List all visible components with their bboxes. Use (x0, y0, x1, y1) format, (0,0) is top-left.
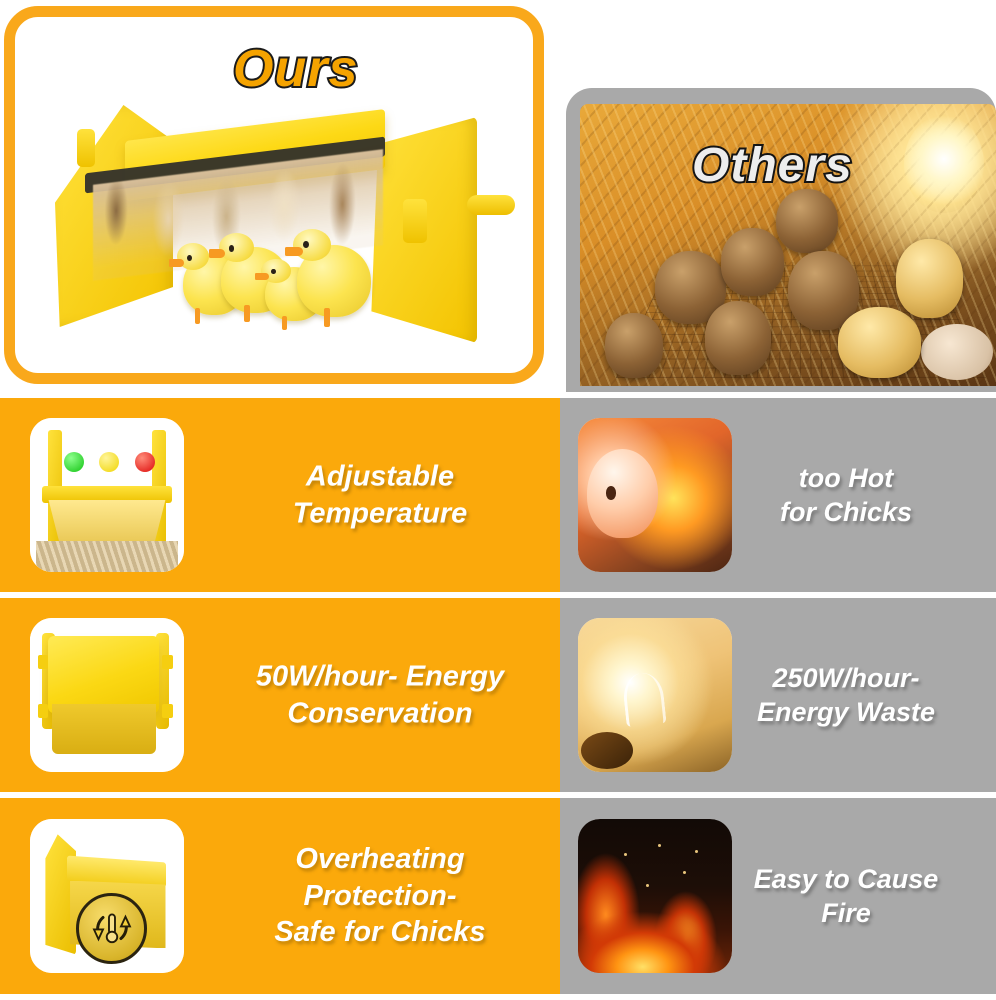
caption-line: 50W/hour- Energy (215, 658, 545, 695)
comparison-infographic: Ours Others (0, 0, 996, 1000)
ours-cell: Adjustable Temperature (0, 398, 560, 592)
chick (776, 189, 838, 254)
feature-row-energy: 50W/hour- Energy Conservation 250W/hour-… (0, 598, 996, 792)
plate-top-surface (48, 636, 159, 713)
chick (605, 313, 663, 378)
ours-cell: 50W/hour- Energy Conservation (0, 598, 560, 792)
feeder-cup (921, 324, 993, 380)
plate-height-knob (467, 195, 515, 215)
chick (896, 239, 963, 318)
others-cell: too Hot for Chicks (560, 398, 996, 592)
others-cell: 250W/hour- Energy Waste (560, 598, 996, 792)
caption-line: Overheating (215, 841, 545, 878)
others-photo-frame: Others (580, 104, 996, 386)
ours-cell: Overheating Protection- Safe for Chicks (0, 798, 560, 994)
plate-clip-right (403, 199, 427, 243)
chick (587, 449, 658, 538)
caption-line: Conservation (215, 695, 545, 732)
plate-tab (38, 655, 49, 669)
feature-row-overheating: Overheating Protection- Safe for Chicks … (0, 798, 996, 994)
hero-ours-panel: Ours (4, 6, 544, 384)
caption-line: Adjustable (215, 458, 545, 495)
bulb-base (581, 732, 633, 769)
caption-line: too Hot (706, 461, 986, 495)
caption-line: Temperature (215, 495, 545, 532)
ours-title: Ours (233, 39, 358, 99)
others-caption-energy-waste: 250W/hour- Energy Waste (706, 661, 986, 729)
caption-line: 250W/hour- (706, 661, 986, 695)
bulb-filament (622, 671, 667, 727)
thermometer-recycle-badge-icon (76, 893, 147, 964)
feature-row-temperature: Adjustable Temperature too Hot for Chick… (0, 398, 996, 592)
plate-clip-left (77, 129, 95, 167)
hero-comparison-row: Ours Others (0, 0, 996, 396)
chick (297, 245, 371, 317)
plate-tab (162, 704, 173, 718)
caption-line: Safe for Chicks (215, 914, 545, 951)
caption-line: Easy to Cause (706, 862, 986, 896)
caption-line: Fire (706, 896, 986, 930)
plate-tab (38, 704, 49, 718)
ours-caption-overheating: Overheating Protection- Safe for Chicks (215, 841, 545, 951)
thumb-energy-conservation (30, 618, 184, 772)
indicator-light-yellow (99, 452, 119, 472)
others-cell: Easy to Cause Fire (560, 798, 996, 994)
bedding-shavings (36, 541, 178, 572)
ours-caption-energy: 50W/hour- Energy Conservation (215, 658, 545, 731)
chick (721, 228, 783, 296)
plate-body (52, 704, 157, 753)
hero-others-panel: Others (566, 88, 996, 396)
chick (705, 301, 772, 374)
others-caption-fire: Easy to Cause Fire (706, 862, 986, 930)
indicator-light-green (64, 452, 84, 472)
caption-line: Energy Waste (706, 695, 986, 729)
ours-caption-temperature: Adjustable Temperature (215, 458, 545, 531)
thumb-adjustable-temperature (30, 418, 184, 572)
thumb-overheating-protection (30, 819, 184, 973)
plate-underside (48, 500, 165, 546)
others-title: Others (692, 138, 853, 193)
chick-eye (606, 486, 617, 500)
indicator-light-red (135, 452, 155, 472)
bottom-edge (0, 994, 996, 1000)
caption-line: for Chicks (706, 495, 986, 529)
caption-line: Protection- (215, 878, 545, 915)
chick (838, 307, 921, 378)
plate-tab (162, 655, 173, 669)
others-caption-too-hot: too Hot for Chicks (706, 461, 986, 529)
